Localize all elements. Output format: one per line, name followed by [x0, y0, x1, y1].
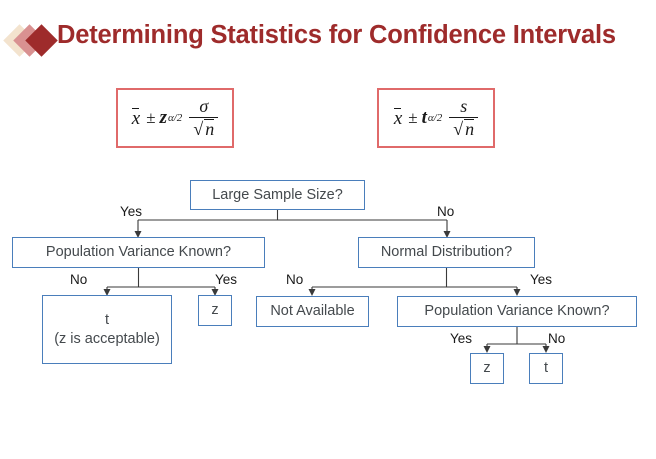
root-n-denominator: √n — [449, 117, 478, 139]
edge-label-no-normal-dist: No — [286, 272, 303, 287]
node-label: Population Variance Known? — [46, 243, 231, 261]
node-z-left[interactable]: z — [198, 295, 232, 326]
node-normal-distribution[interactable]: Normal Distribution? — [358, 237, 535, 268]
node-label: Normal Distribution? — [381, 243, 512, 261]
diamond-cluster-icon — [6, 22, 62, 58]
node-not-available[interactable]: Not Available — [256, 296, 369, 327]
edge-label-no-large-sample: No — [437, 204, 454, 219]
t-statistic-symbol: t — [422, 107, 427, 129]
node-large-sample-size[interactable]: Large Sample Size? — [190, 180, 365, 210]
node-label: Not Available — [270, 302, 354, 320]
page-title: Determining Statistics for Confidence In… — [57, 21, 616, 50]
n-symbol: n — [464, 119, 474, 139]
slide-canvas: Determining Statistics for Confidence In… — [0, 0, 656, 459]
sigma-over-root-n-fraction: σ √n — [189, 97, 218, 139]
root-n-denominator: √n — [189, 117, 218, 139]
n-symbol: n — [204, 119, 214, 139]
x-bar-symbol: x — [132, 107, 140, 130]
z-interval-formula-box: x ± z α/2 σ √n — [116, 88, 234, 148]
s-over-root-n-fraction: s √n — [449, 97, 478, 139]
node-z-bottom[interactable]: z — [470, 353, 504, 384]
alpha-over-two-subscript: α/2 — [168, 112, 182, 124]
node-population-variance-known-left[interactable]: Population Variance Known? — [12, 237, 265, 268]
plus-minus-symbol: ± — [146, 108, 155, 128]
edge-label-yes-normal-dist: Yes — [530, 272, 552, 287]
edge-label-no-pop-var-left: No — [70, 272, 87, 287]
t-interval-formula-box: x ± t α/2 s √n — [377, 88, 495, 148]
radical-sign-icon: √ — [453, 119, 463, 139]
edge-label-yes-pop-var-left: Yes — [215, 272, 237, 287]
node-label-line2: (z is acceptable) — [54, 330, 160, 348]
radical-sign-icon: √ — [193, 119, 203, 139]
node-t-bottom[interactable]: t — [529, 353, 563, 384]
z-interval-formula: x ± z α/2 σ √n — [132, 97, 218, 139]
node-label: z — [211, 301, 218, 319]
node-label-line1: t — [105, 311, 109, 329]
node-label: t — [544, 359, 548, 377]
edge-label-yes-pop-var-right: Yes — [450, 331, 472, 346]
alpha-over-two-subscript: α/2 — [428, 112, 442, 124]
edge-label-no-pop-var-right: No — [548, 331, 565, 346]
plus-minus-symbol: ± — [408, 108, 417, 128]
title-bar: Determining Statistics for Confidence In… — [0, 16, 656, 62]
x-bar-symbol: x — [394, 107, 402, 130]
z-statistic-symbol: z — [160, 107, 167, 129]
s-symbol: s — [456, 97, 471, 117]
node-label: Population Variance Known? — [424, 302, 609, 320]
t-interval-formula: x ± t α/2 s √n — [394, 97, 478, 139]
sigma-symbol: σ — [195, 97, 212, 117]
flowchart-connectors — [0, 0, 656, 459]
node-label: z — [483, 359, 490, 377]
node-label: Large Sample Size? — [212, 186, 343, 204]
node-t-z-is-acceptable[interactable]: t (z is acceptable) — [42, 295, 172, 364]
edge-label-yes-large-sample: Yes — [120, 204, 142, 219]
node-population-variance-known-right[interactable]: Population Variance Known? — [397, 296, 637, 327]
